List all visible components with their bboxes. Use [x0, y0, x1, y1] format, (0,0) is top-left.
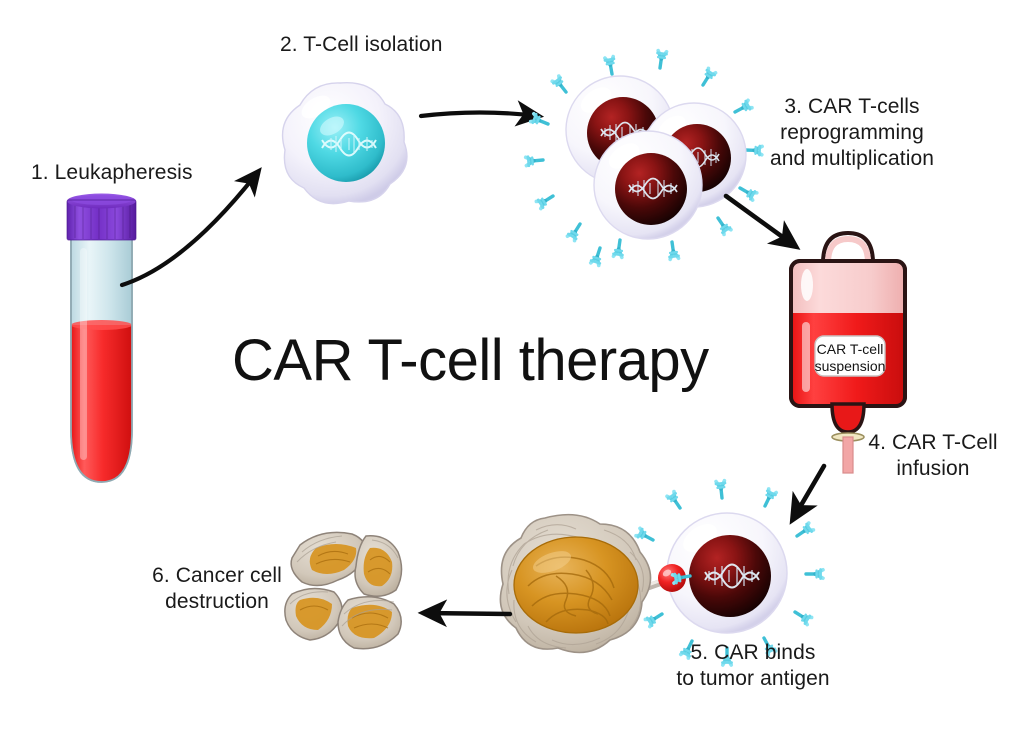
- step-2-label: 2. T-Cell isolation: [280, 32, 443, 58]
- tumor-fragment-1: [291, 532, 366, 585]
- tumor-antigen-binding: [625, 564, 691, 595]
- diagonal-arrow-cluster-to-bag: [726, 196, 795, 246]
- tumor-cell: [500, 515, 650, 653]
- car-receptors-binding-cell: [631, 481, 823, 665]
- step-5-label: 5. CAR binds to tumor antigen: [658, 640, 848, 692]
- destroyed-tumor-cell-illustration: [285, 532, 402, 648]
- car-t-cell-binding-illustration: [500, 481, 823, 665]
- car-receptors-cluster: [526, 51, 762, 266]
- curved-arrow-tube-to-tcell: [122, 172, 258, 285]
- diagonal-arrow-bag-to-cell: [793, 466, 824, 519]
- car-t-cell-cluster-illustration: [526, 51, 762, 266]
- car-t-cell-therapy-diagram: 1. Leukapheresis 2. T-Cell isolation 3. …: [0, 0, 1024, 733]
- blood-collection-tube-illustration: [67, 194, 136, 483]
- step-3-label: 3. CAR T-cells reprogramming and multipl…: [766, 94, 938, 172]
- step-4-label: 4. CAR T-Cell infusion: [857, 430, 1009, 482]
- bag-suspension-label: CAR T-cell suspension: [802, 341, 898, 375]
- tumor-fragment-4: [338, 597, 401, 649]
- step-1-label: 1. Leukapheresis: [31, 160, 193, 186]
- diagram-title: CAR T-cell therapy: [232, 330, 709, 392]
- tumor-fragment-2: [355, 536, 402, 596]
- step-6-label: 6. Cancer cell destruction: [132, 563, 302, 615]
- straight-arrow-tcell-to-cluster: [421, 113, 538, 117]
- t-cell-illustration: [283, 83, 407, 204]
- straight-arrow-tumor-to-destroyed: [424, 613, 510, 614]
